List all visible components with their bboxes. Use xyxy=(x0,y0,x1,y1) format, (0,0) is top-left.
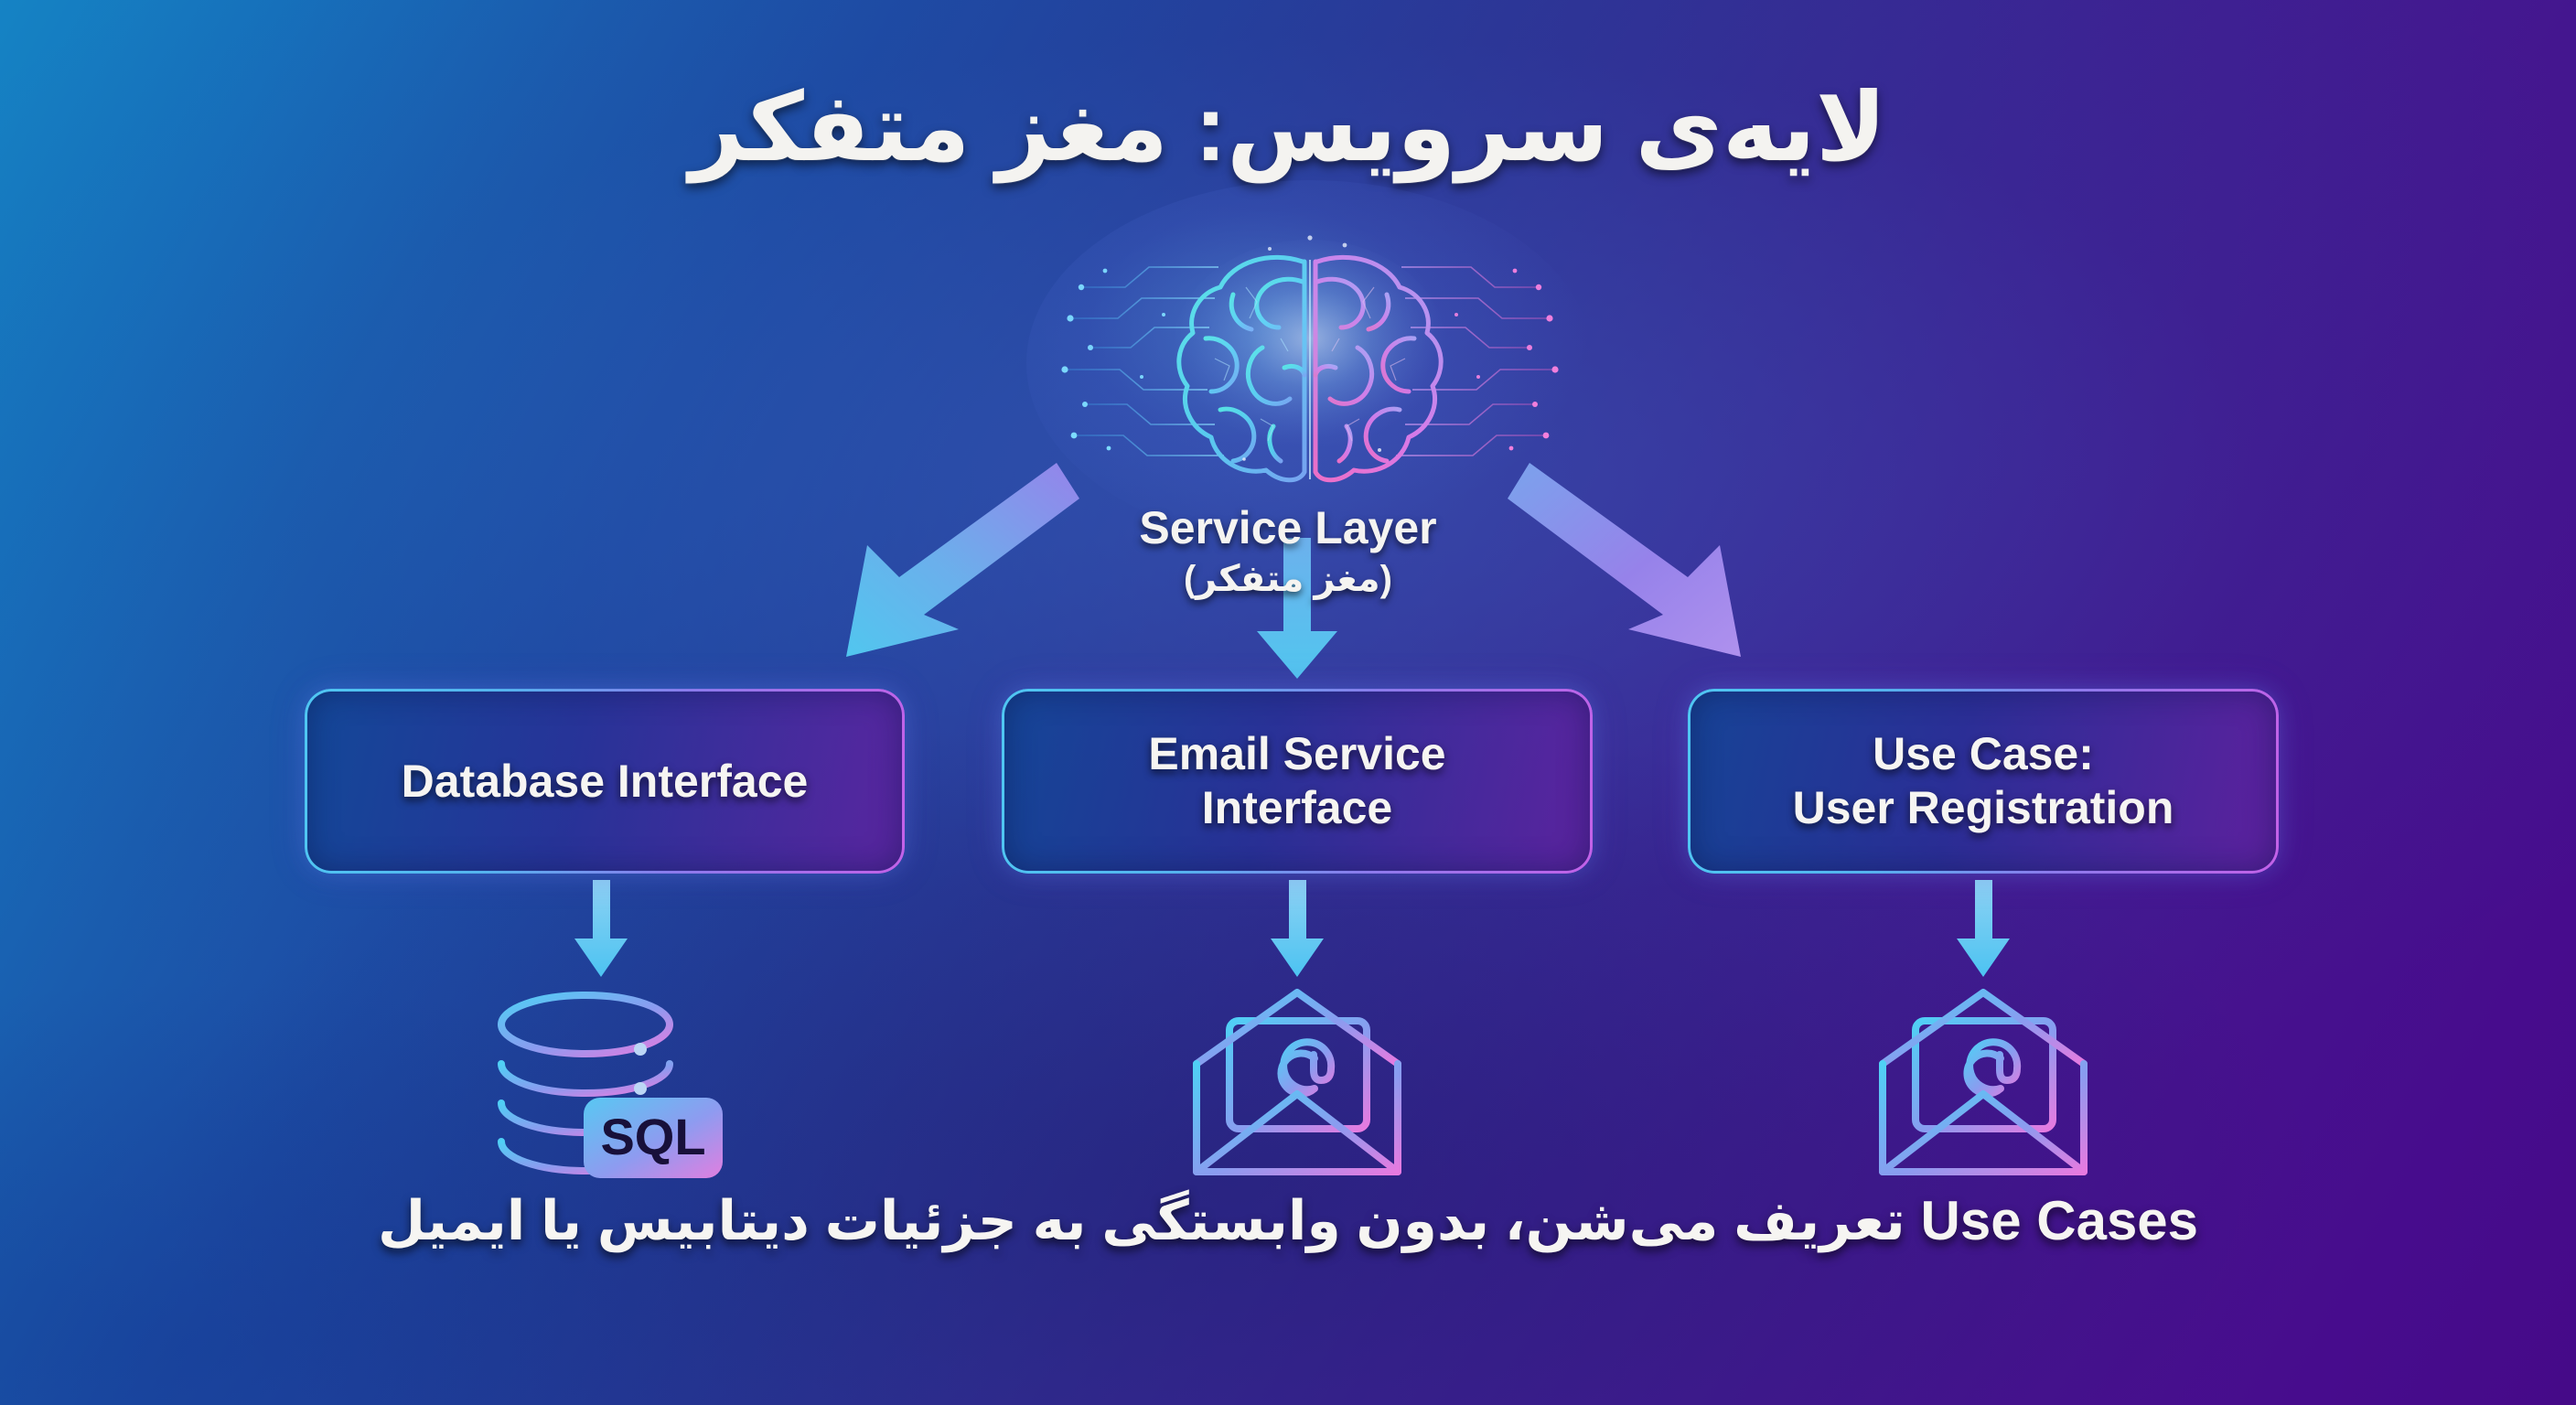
arrow-email-to-envelope-icon xyxy=(1271,880,1324,977)
node-box-label-line-2: User Registration xyxy=(1793,782,2174,833)
footer-caption: Use Cases تعریف می‌شن، بدون وابستگی به ج… xyxy=(0,1189,2576,1253)
node-box-email-service-interface[interactable]: Email Service Interface xyxy=(1004,692,1590,871)
brain-circuit-svg xyxy=(1054,231,1566,496)
arrow-database-to-sql-icon xyxy=(574,880,628,977)
node-box-label-line-1: Email Service xyxy=(1148,728,1445,779)
database-sql-icon xyxy=(501,995,670,1171)
brain-circuit-icon xyxy=(1054,231,1566,496)
page-title: لایه‌ی سرویس: مغز متفکر xyxy=(0,71,2576,183)
node-box-label-line-2: Interface xyxy=(1202,782,1392,833)
node-box-label: Use Case: User Registration xyxy=(1793,727,2174,835)
diagram-canvas: لایه‌ی سرویس: مغز متفکر xyxy=(0,0,2576,1405)
node-box-database-interface[interactable]: Database Interface xyxy=(307,692,902,871)
email-at-icon-center xyxy=(1197,992,1398,1172)
email-at-icon-right xyxy=(1883,992,2084,1172)
hub-label-en: Service Layer xyxy=(0,501,2576,554)
node-box-label-line-1: Use Case: xyxy=(1873,728,2094,779)
arrow-usecase-to-envelope-icon xyxy=(1957,880,2010,977)
sql-badge-label: SQL xyxy=(600,1108,705,1165)
sql-badge: SQL xyxy=(584,1098,723,1178)
hub-label-fa: (مغز متفکر) xyxy=(0,558,2576,600)
node-box-label: Database Interface xyxy=(402,755,809,809)
node-box-label: Email Service Interface xyxy=(1148,727,1445,835)
database-led-dots xyxy=(634,1043,647,1095)
node-box-use-case-user-registration[interactable]: Use Case: User Registration xyxy=(1690,692,2276,871)
